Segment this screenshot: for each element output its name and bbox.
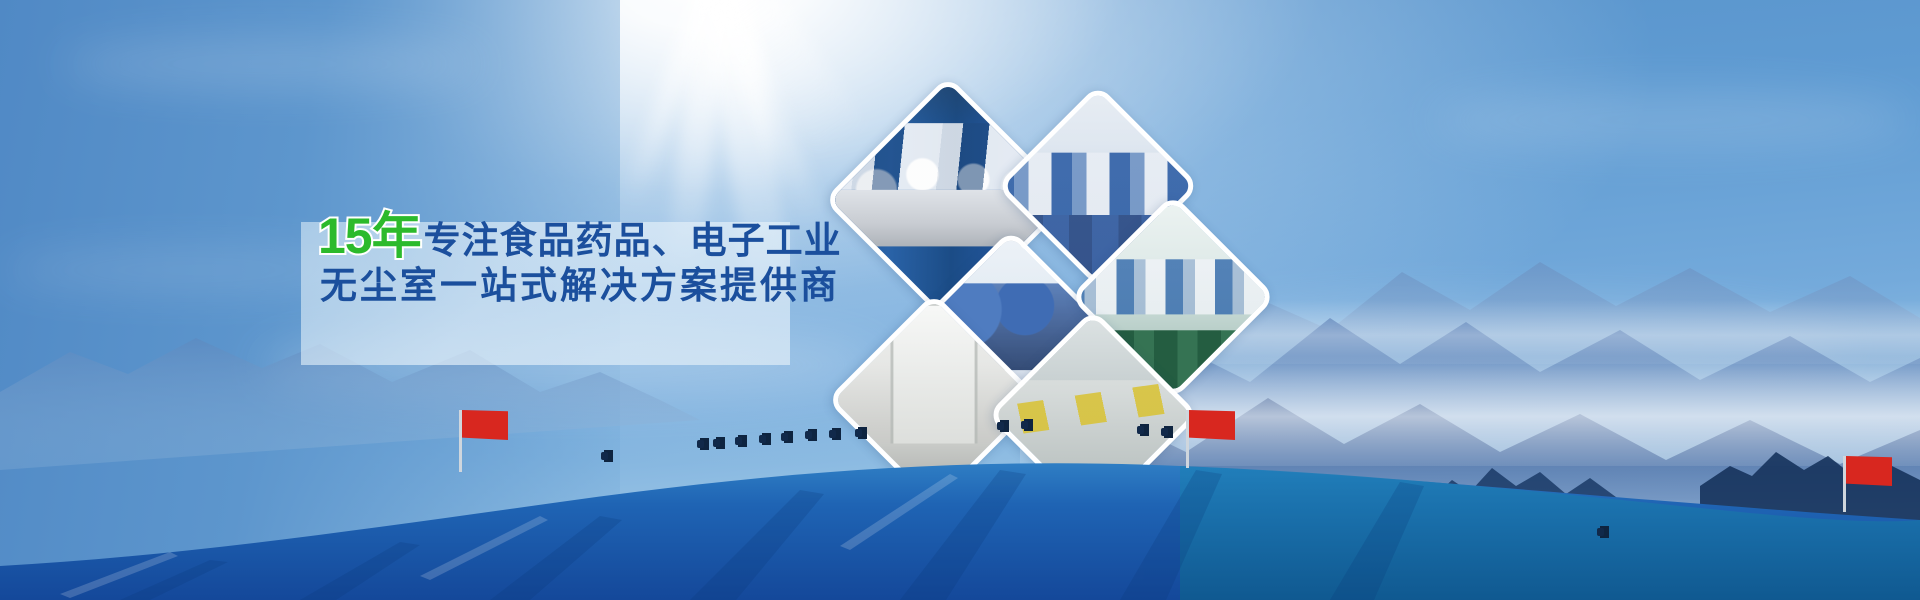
headline-line-1-rest: 专注食品药品、电子工业	[424, 222, 842, 262]
red-flag-icon	[459, 410, 509, 472]
years-badge: 15年	[318, 211, 421, 262]
red-flag-icon	[1843, 456, 1889, 512]
red-flag-icon	[1186, 410, 1236, 468]
hero-banner: 15年 专注食品药品、电子工业 无尘室一站式解决方案提供商	[0, 0, 1920, 600]
headline-text-block: 15年 专注食品药品、电子工业 无尘室一站式解决方案提供商	[318, 198, 838, 318]
headline-line-2: 无尘室一站式解决方案提供商	[318, 267, 838, 305]
headline-line-1: 15年 专注食品药品、电子工业	[318, 211, 838, 262]
foreground-ridge	[0, 370, 1920, 600]
